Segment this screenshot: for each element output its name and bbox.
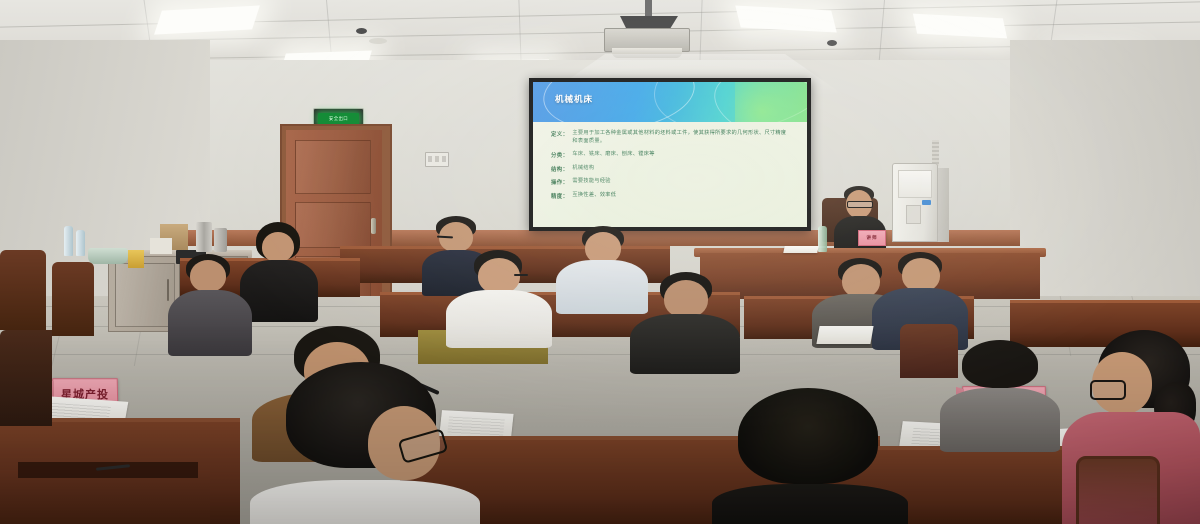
slide-row-key: 定义：	[551, 130, 568, 138]
paper-package	[150, 238, 172, 254]
ac-display-panel[interactable]	[906, 205, 921, 224]
chair-back	[0, 330, 52, 426]
ac-brand-badge	[922, 200, 931, 205]
slide-row: 结构： 机械结构	[551, 165, 791, 173]
slide-row-key: 分类：	[551, 151, 568, 159]
ceiling-light	[154, 5, 260, 34]
slide-row: 定义： 主要用于加工各种金属或其他材料的坯料或工件，使其获得所要求的几何形状、尺…	[551, 130, 791, 146]
audience-member	[940, 340, 1060, 450]
wall-control-panel[interactable]	[425, 152, 449, 167]
slide-row: 精度： 互换性差、效率低	[551, 192, 791, 200]
slide-row-value: 机械结构	[572, 165, 594, 173]
chair-back	[0, 250, 46, 330]
audience-member	[168, 254, 252, 352]
slide-row-key: 精度：	[551, 192, 568, 200]
projection-screen: 机械机床 定义： 主要用于加工各种金属或其他材料的坯料或工件，使其获得所要求的几…	[533, 82, 807, 227]
chair-back	[52, 262, 94, 336]
supply-package	[128, 250, 144, 268]
slide-row: 分类： 车床、铣床、磨床、刨床、镗床等	[551, 151, 791, 159]
slide-header-band: 机械机床	[533, 82, 807, 122]
water-bottle	[818, 226, 827, 252]
conference-room-photo: 机械机床 定义： 主要用于加工各种金属或其他材料的坯料或工件，使其获得所要求的几…	[0, 0, 1200, 524]
desk-shelf-gap	[18, 462, 198, 478]
smoke-detector	[369, 38, 387, 44]
presenter-glasses	[847, 201, 873, 208]
slide-row-value: 主要用于加工各种金属或其他材料的坯料或工件，使其获得所要求的几何形状、尺寸精度和…	[572, 130, 791, 146]
foreground-audience-member	[250, 362, 480, 524]
ac-vent	[898, 170, 932, 198]
name-card: 讲师	[858, 230, 886, 246]
slide-body: 定义： 主要用于加工各种金属或其他材料的坯料或工件，使其获得所要求的几何形状、尺…	[533, 122, 807, 227]
slide-row-value: 互换性差、效率低	[572, 192, 616, 200]
slide-row-value: 需要技能与经验	[572, 178, 610, 186]
ceiling-speaker	[356, 28, 367, 34]
presenter-papers	[783, 246, 818, 253]
ceiling-speaker	[827, 40, 837, 46]
chair-back	[900, 324, 958, 378]
exit-sign-label: 安全出口	[329, 116, 348, 122]
slide-row-key: 结构：	[551, 165, 568, 173]
foreground-audience-member	[712, 388, 908, 524]
water-bottle	[76, 230, 85, 256]
name-card-label: 讲师	[866, 235, 877, 241]
projection-screen-frame: 机械机床 定义： 主要用于加工各种金属或其他材料的坯料或工件，使其获得所要求的几…	[529, 78, 811, 231]
slide-row-value: 车床、铣床、磨床、刨床、镗床等	[572, 151, 654, 159]
slide-row-key: 操作：	[551, 178, 568, 186]
audience-member	[630, 272, 740, 370]
chair-back	[1076, 456, 1160, 524]
thermos-flask	[214, 228, 227, 252]
foreground-desk-front	[0, 470, 210, 524]
slide-row: 操作： 需要技能与经验	[551, 178, 791, 186]
thermos-flask	[196, 222, 212, 252]
water-bottle	[64, 226, 73, 256]
document	[816, 326, 873, 344]
slide-title: 机械机床	[555, 93, 593, 105]
ceiling-light	[913, 14, 1007, 39]
wash-basin	[88, 248, 128, 264]
door-handle[interactable]	[371, 218, 376, 234]
audience-member	[446, 250, 552, 346]
eyeglasses	[1090, 380, 1126, 400]
